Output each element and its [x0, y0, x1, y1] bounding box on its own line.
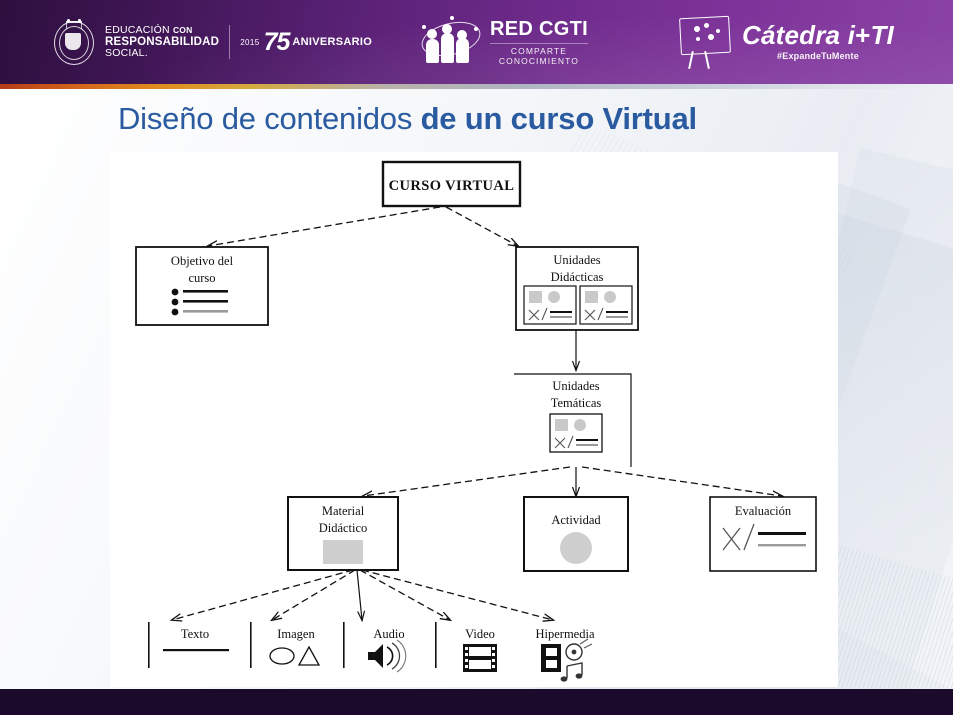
node-label-objetivo-l1: Objetivo del	[171, 254, 234, 268]
edge-material-texto	[172, 570, 353, 620]
red-cgti-logo: RED CGTI COMPARTE CONOCIMIENTO	[420, 14, 588, 70]
anniversary-block: 2015 75 ANIVERSARIO	[240, 30, 372, 55]
node-label-ut-l1: Unidades	[552, 379, 599, 393]
node-label-hipermedia: Hipermedia	[535, 627, 594, 641]
bottom-separator	[343, 622, 345, 668]
bottom-separator	[148, 622, 150, 668]
anniversary-number: 75	[264, 30, 290, 55]
anniversary-year: 2015	[240, 38, 259, 47]
edge-material-hipermedia	[362, 570, 553, 620]
edge-ut-evaluacion	[582, 467, 782, 496]
node-imagen: Imagen	[270, 627, 319, 665]
mini-card-icon	[580, 286, 632, 324]
node-evaluacion: Evaluación	[710, 497, 816, 571]
logo-row: EDUCACIÓN CON RESPONSABILIDAD SOCIAL. 20…	[0, 0, 953, 84]
film-strip-icon	[463, 644, 497, 672]
gray-circle-icon	[560, 532, 592, 564]
node-curso-virtual: CURSO VIRTUAL	[383, 162, 520, 206]
header-accent-rule	[0, 84, 953, 89]
mini-card-icon	[550, 414, 602, 452]
gray-rectangle-icon	[323, 540, 363, 564]
node-label-material-l2: Didáctico	[319, 521, 368, 535]
catedra-text-block: Cátedra i+TI #ExpandeTuMente	[742, 22, 894, 62]
educacion-line-3: SOCIAL.	[105, 48, 219, 59]
educacion-text-block: EDUCACIÓN CON RESPONSABILIDAD SOCIAL.	[105, 25, 219, 59]
anniversary-word: ANIVERSARIO	[292, 36, 372, 48]
diagram-svg: CURSO VIRTUAL Objetivo del curso	[110, 152, 838, 687]
educacion-line-1: EDUCACIÓN CON	[105, 25, 219, 36]
title-bold: de un curso Virtual	[421, 101, 697, 136]
slide: EDUCACIÓN CON RESPONSABILIDAD SOCIAL. 20…	[0, 0, 953, 715]
node-label-video: Video	[465, 627, 495, 641]
course-design-diagram: CURSO VIRTUAL Objetivo del curso	[110, 152, 838, 687]
cgti-text-block: RED CGTI COMPARTE CONOCIMIENTO	[490, 18, 588, 66]
node-actividad: Actividad	[524, 497, 628, 571]
node-audio: Audio	[368, 627, 406, 672]
cgti-subtitle-2: CONOCIMIENTO	[490, 57, 588, 66]
edge-curso-unidades-didacticas	[446, 207, 518, 246]
catedra-title: Cátedra i+TI	[742, 22, 894, 49]
bottom-separator	[250, 622, 252, 668]
speaker-icon	[368, 640, 406, 672]
node-label-material-l1: Material	[322, 504, 365, 518]
easel-board-icon	[678, 15, 736, 69]
node-label-ut-l2: Temáticas	[551, 396, 602, 410]
ellipse-triangle-icon	[270, 647, 319, 665]
edge-material-audio	[357, 570, 362, 620]
catedra-iti-logo: Cátedra i+TI #ExpandeTuMente	[678, 14, 894, 70]
university-crest-icon	[50, 17, 96, 67]
film-music-icon	[541, 639, 592, 682]
node-material-didactico: Material Didáctico	[288, 497, 398, 570]
node-label-curso-virtual: CURSO VIRTUAL	[389, 178, 515, 194]
header-bar: EDUCACIÓN CON RESPONSABILIDAD SOCIAL. 20…	[0, 0, 953, 84]
node-label-imagen: Imagen	[277, 627, 315, 641]
node-unidades-didacticas: Unidades Didácticas	[516, 247, 638, 330]
universidad-crest-logo: EDUCACIÓN CON RESPONSABILIDAD SOCIAL. 20…	[50, 16, 372, 68]
node-label-objetivo-l2: curso	[188, 271, 215, 285]
catedra-hashtag: #ExpandeTuMente	[742, 52, 894, 61]
cgti-title: RED CGTI	[490, 18, 588, 40]
node-label-ud-l1: Unidades	[553, 253, 600, 267]
node-label-actividad: Actividad	[551, 513, 601, 527]
node-unidades-tematicas: Unidades Temáticas	[550, 379, 602, 452]
underline-icon	[163, 649, 229, 651]
people-network-icon	[420, 15, 482, 69]
title-regular: Diseño de contenidos	[118, 101, 421, 136]
node-video: Video	[463, 627, 497, 672]
node-label-texto: Texto	[181, 627, 209, 641]
node-label-ud-l2: Didácticas	[551, 270, 604, 284]
edge-material-video	[360, 570, 450, 620]
page-title: Diseño de contenidos de un curso Virtual	[118, 101, 697, 137]
node-label-evaluacion: Evaluación	[735, 504, 792, 518]
edge-material-imagen	[272, 570, 355, 620]
edge-ut-material	[363, 467, 570, 496]
node-hipermedia: Hipermedia	[535, 627, 594, 682]
mini-card-icon	[524, 286, 576, 324]
edge-curso-objetivo	[208, 207, 440, 246]
node-label-audio: Audio	[373, 627, 404, 641]
logo-divider	[229, 25, 230, 59]
cgti-rule	[490, 43, 588, 44]
footer-bar	[0, 689, 953, 715]
bottom-separator	[435, 622, 437, 668]
node-texto: Texto	[163, 627, 229, 651]
node-objetivo-del-curso: Objetivo del curso	[136, 247, 268, 325]
